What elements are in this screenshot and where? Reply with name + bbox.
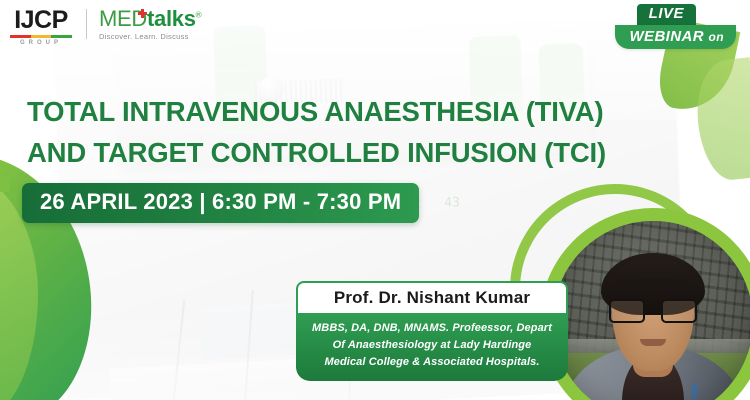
speaker-photo [553,221,750,400]
medtalks-word-talks: talks [147,6,196,31]
title-line-1: TOTAL INTRAVENOUS ANAESTHESIA (TIVA) [27,92,687,133]
ijcp-sublabel: GROUP [20,40,62,46]
medtalks-logo[interactable]: MEDtalks® Discover. Learn. Discuss [99,6,201,41]
webinar-badge-label: WEBINAR [629,28,703,45]
brand-header: IJCP GROUP MEDtalks® Discover. Learn. Di… [0,0,201,46]
title-line-2: AND TARGET CONTROLLED INFUSION (TCI) [27,133,687,174]
webinar-badge-suffix: on [709,30,724,44]
webinar-badge: WEBINAR on [615,25,736,49]
speaker-credentials: MBBS, DA, DNB, MNAMS. Profeessor, Depart… [296,313,568,380]
speaker-name-container: Prof. Dr. Nishant Kumar [296,281,568,313]
speaker-name: Prof. Dr. Nishant Kumar [308,288,556,308]
speaker-card: Prof. Dr. Nishant Kumar MBBS, DA, DNB, M… [296,281,568,381]
medical-cross-icon [138,9,147,18]
ijcp-logo[interactable]: IJCP GROUP [10,6,72,46]
live-badge: LIVE [637,4,696,26]
webinar-banner: 0.0 2 43 IJCP GROUP MEDtalks® [0,0,750,400]
ijcp-color-bar [10,35,72,38]
medtalks-wordmark: MEDtalks® [99,8,201,30]
logo-divider [86,9,87,39]
left-green-notch-decor [0,176,10,192]
ijcp-wordmark: IJCP [14,8,68,33]
speaker-photo-ring [540,208,750,400]
schedule-pill: 26 APRIL 2023 | 6:30 PM - 7:30 PM [22,183,419,223]
medtalks-tagline: Discover. Learn. Discuss [99,32,201,41]
live-webinar-badge-group: LIVE WEBINAR on [615,4,736,49]
page-title: TOTAL INTRAVENOUS ANAESTHESIA (TIVA) AND… [27,92,687,173]
registered-mark: ® [196,11,202,20]
